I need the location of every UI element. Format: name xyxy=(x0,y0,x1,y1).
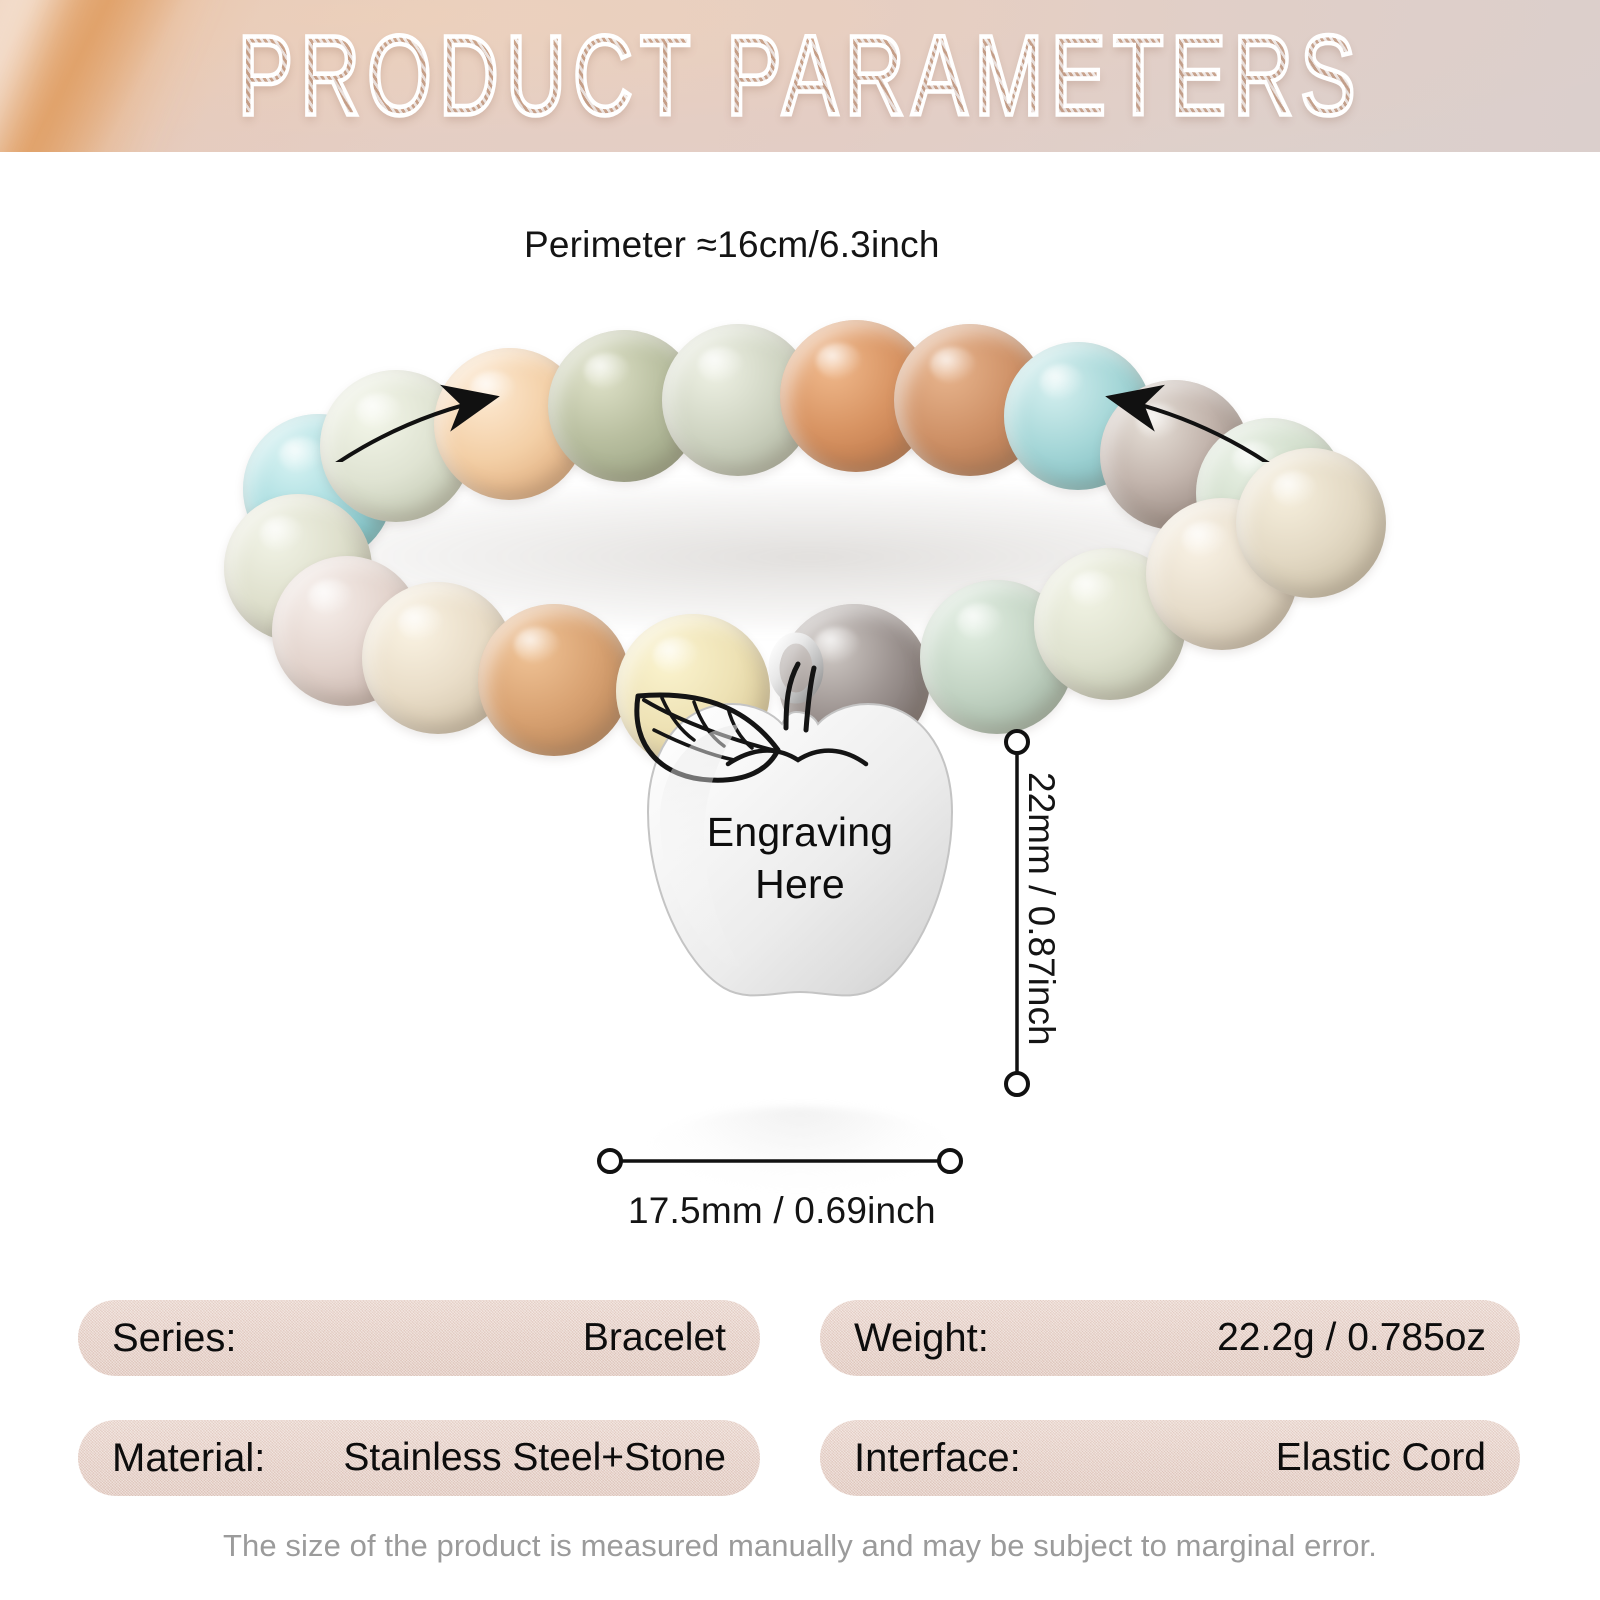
header-banner: PRODUCT PARAMETERS PRODUCT PARAMETERS xyxy=(0,0,1600,152)
engraving-line-1: Engraving xyxy=(600,806,1000,858)
product-photo: Perimeter ≈16cm/6.3inch xyxy=(0,152,1600,1262)
charm-engraving-text: Engraving Here xyxy=(600,806,1000,910)
charm-height-label: 22mm / 0.87inch xyxy=(1020,772,1062,1046)
perimeter-arrow-left xyxy=(255,398,492,462)
spec-key-interface: Interface: xyxy=(854,1436,1021,1481)
charm-width-label: 17.5mm / 0.69inch xyxy=(628,1190,936,1232)
height-dim-cap-top xyxy=(1006,731,1028,753)
engraving-line-2: Here xyxy=(600,858,1000,910)
page-title: PRODUCT PARAMETERS xyxy=(24,0,1576,152)
perimeter-arrow-right xyxy=(1113,398,1350,462)
spec-value-series: Bracelet xyxy=(583,1316,726,1360)
measurement-disclaimer: The size of the product is measured manu… xyxy=(0,1528,1600,1564)
spec-pill-interface: Interface: Elastic Cord xyxy=(820,1420,1520,1496)
spec-key-material: Material: xyxy=(112,1436,265,1481)
spec-value-interface: Elastic Cord xyxy=(1276,1436,1486,1480)
spec-pill-weight: Weight: 22.2g / 0.785oz xyxy=(820,1300,1520,1376)
spec-key-weight: Weight: xyxy=(854,1316,989,1361)
width-dim-cap-right xyxy=(939,1150,961,1172)
apple-charm: Engraving Here xyxy=(600,620,1000,1040)
spec-pill-series: Series: Bracelet xyxy=(78,1300,760,1376)
width-dim-cap-left xyxy=(599,1150,621,1172)
height-dim-cap-bottom xyxy=(1006,1073,1028,1095)
perimeter-label: Perimeter ≈16cm/6.3inch xyxy=(524,224,940,266)
spec-key-series: Series: xyxy=(112,1316,237,1361)
product-parameters-infographic: PRODUCT PARAMETERS PRODUCT PARAMETERS xyxy=(0,0,1600,1600)
charm-width-dimension xyxy=(590,1142,990,1182)
spec-value-material: Stainless Steel+Stone xyxy=(343,1436,726,1480)
spec-value-weight: 22.2g / 0.785oz xyxy=(1217,1316,1486,1360)
bead-sand-1 xyxy=(1236,448,1386,598)
spec-pill-material: Material: Stainless Steel+Stone xyxy=(78,1420,760,1496)
